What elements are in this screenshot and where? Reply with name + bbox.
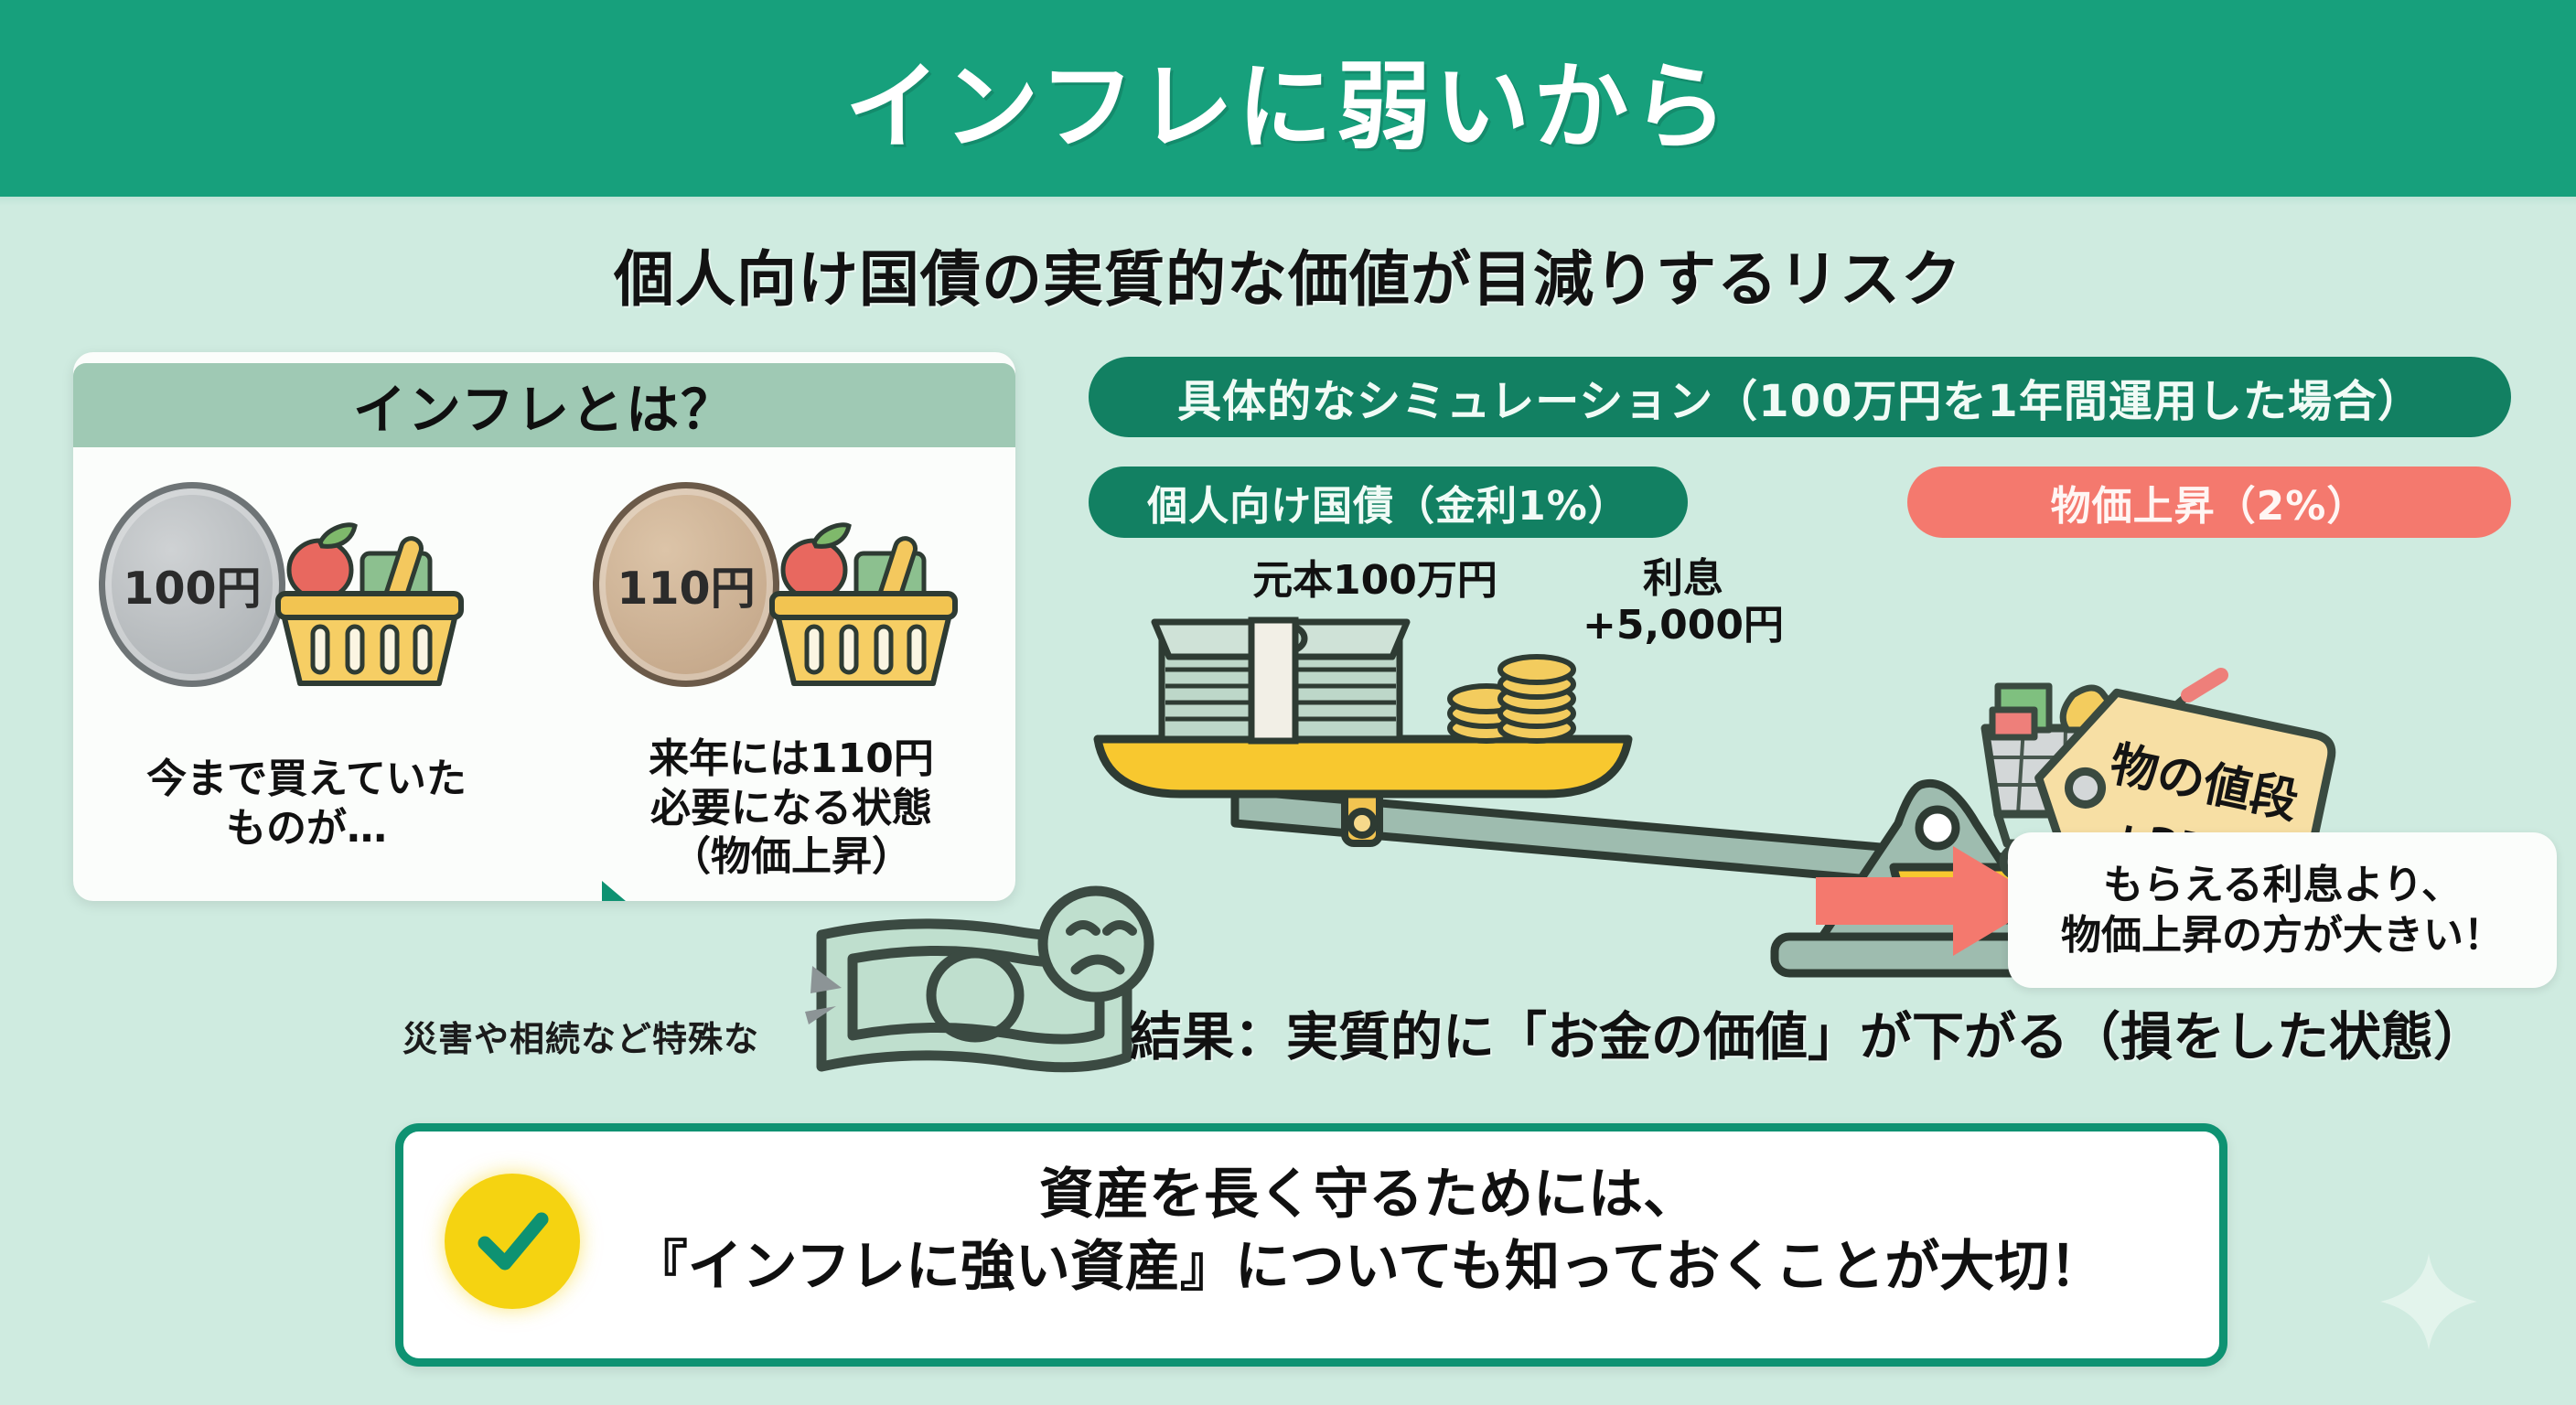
page-subtitle: 個人向け国債の実質的な価値が目減りするリスク	[0, 231, 2576, 318]
simulation-header-pill: 具体的なシミュレーション（100万円を1年間運用した場合）	[1089, 357, 2511, 437]
conclusion-line2: 『インフレに強い資産』についても知っておくことが大切！	[591, 1231, 2146, 1303]
after-caption: 来年には110円 必要になる状態 （物価上昇）	[595, 735, 988, 882]
conclusion-line1: 資産を長く守るためには、	[591, 1159, 2146, 1231]
infographic-root: インフレに弱いから 個人向け国債の実質的な価値が目減りするリスク インフレとは？…	[0, 0, 2576, 1405]
interest-label-line1: 利息	[1546, 556, 1820, 603]
shopping-basket-icon	[757, 513, 970, 696]
after-group: 110円	[585, 471, 970, 736]
check-icon	[468, 1197, 556, 1285]
before-caption-line2: ものが…	[110, 804, 503, 853]
callout-line1: もらえる利息より、	[2103, 860, 2462, 910]
interest-label: 利息 +5,000円	[1546, 556, 1820, 649]
principal-label: 元本100万円	[1224, 558, 1526, 605]
side-note-text: 災害や相続など特殊な	[402, 1011, 759, 1061]
inflation-card-title: インフレとは？	[353, 367, 735, 444]
right-triangle-arrow-icon	[602, 881, 686, 901]
header-band: インフレに弱いから	[0, 0, 2576, 197]
check-badge	[445, 1174, 580, 1309]
sparkle-icon	[2378, 1251, 2479, 1352]
after-caption-line1: 来年には110円	[595, 735, 988, 784]
price-rise-pill: 物価上昇（2%）	[1907, 467, 2511, 538]
before-caption: 今まで買えていた ものが…	[110, 755, 503, 853]
after-caption-line2: 必要になる状態	[595, 784, 988, 833]
bond-pill: 個人向け国債（金利1%）	[1089, 467, 1688, 538]
result-text: 結果：実質的に「お金の価値」が下がる（損をした状態）	[1130, 995, 2485, 1070]
shopping-basket-icon	[263, 513, 476, 696]
coin-comparison-row: 100円 110円	[73, 462, 1015, 745]
callout-bubble: もらえる利息より、 物価上昇の方が大きい！	[2008, 832, 2557, 988]
before-caption-line1: 今まで買えていた	[110, 755, 503, 804]
simulation-header-label: 具体的なシミュレーション（100万円を1年間運用した場合）	[1177, 365, 2422, 429]
sad-banknote-icon	[805, 878, 1171, 1098]
before-group: 100円	[91, 471, 476, 736]
conclusion-text: 資産を長く守るためには、 『インフレに強い資産』についても知っておくことが大切！	[591, 1159, 2146, 1303]
header-underline	[0, 197, 2576, 206]
coin-100yen: 100円	[99, 482, 285, 687]
inflation-card-header: インフレとは？	[73, 363, 1015, 447]
after-caption-line3: （物価上昇）	[595, 832, 988, 882]
inflation-card: インフレとは？ 100円	[73, 352, 1015, 901]
page-title: インフレに弱いから	[845, 29, 1732, 167]
interest-label-line2: +5,000円	[1546, 603, 1820, 649]
conclusion-box: 資産を長く守るためには、 『インフレに強い資産』についても知っておくことが大切！	[395, 1123, 2227, 1367]
coin-110yen: 110円	[593, 482, 779, 687]
callout-line2: 物価上昇の方が大きい！	[2061, 910, 2504, 960]
